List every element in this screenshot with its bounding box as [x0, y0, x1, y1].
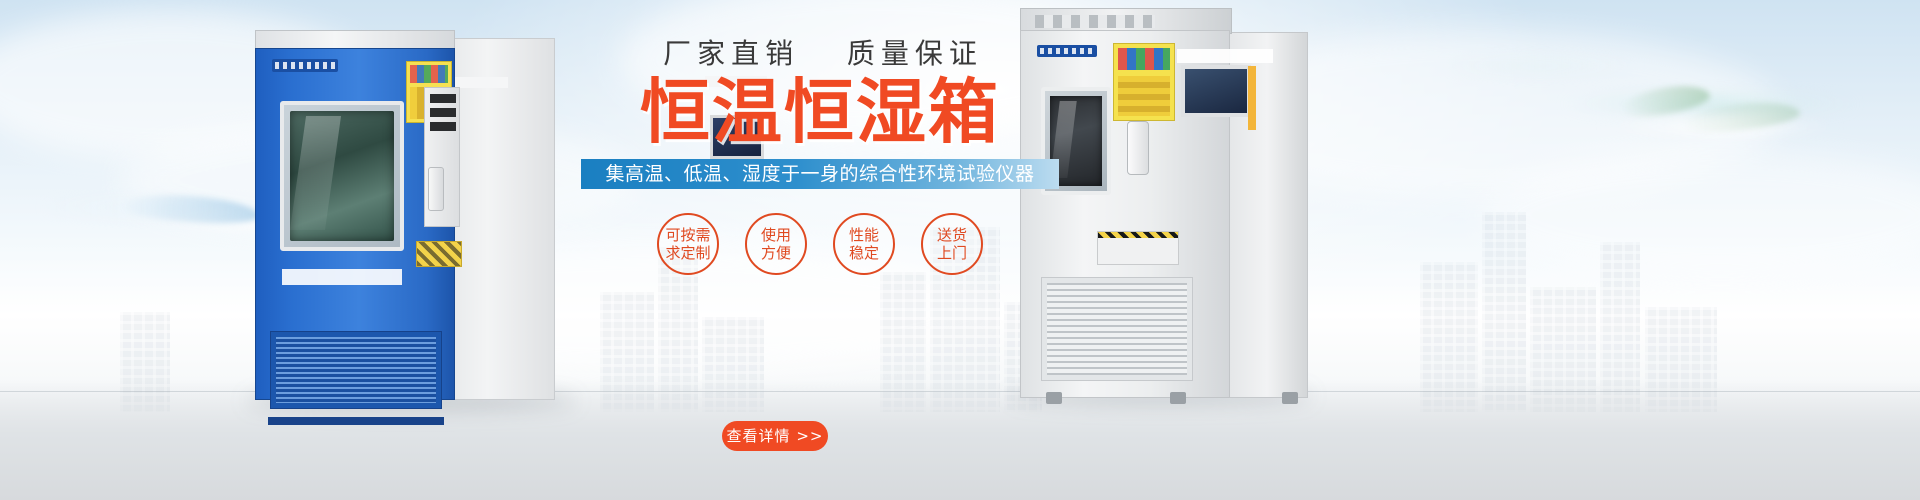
left-chamber-door [280, 101, 404, 251]
feature-badge-easy-use[interactable]: 使用 方便 [745, 213, 807, 275]
badge-line-1: 使用 [761, 226, 791, 244]
left-chamber-window [290, 111, 394, 241]
banner-subtitle-bar: 集高温、低温、湿度于一身的综合性环境试验仪器 [581, 159, 1059, 189]
feature-badge-list: 可按需 求定制 使用 方便 性能 稳定 送货 上门 [560, 213, 1080, 275]
left-chamber-handle [428, 167, 444, 211]
banner-headline: 恒温恒湿箱 [560, 77, 1080, 147]
badge-line-1: 送货 [937, 226, 967, 244]
feature-badge-delivery[interactable]: 送货 上门 [921, 213, 983, 275]
right-chamber-hmi-screen [1181, 65, 1251, 117]
view-details-button[interactable]: 查看详情 >> [722, 421, 828, 451]
left-chamber-side-cabinet [451, 38, 555, 400]
badge-line-1: 性能 [849, 226, 879, 244]
kicker-part-2: 质量保证 [847, 40, 983, 68]
badge-line-1: 可按需 [665, 226, 710, 244]
left-chamber-hazard-label [416, 241, 462, 267]
right-chamber-accent-stripe [1248, 66, 1256, 130]
brush-streak-decoration [1440, 60, 1640, 72]
left-chamber-unit [255, 30, 555, 400]
right-chamber-vent-grille [1041, 277, 1193, 381]
promo-banner: 厂家直销 质量保证 恒温恒湿箱 集高温、低温、湿度于一身的综合性环境试验仪器 可… [0, 0, 1920, 500]
kicker-part-1: 厂家直销 [663, 40, 799, 68]
badge-line-2: 求定制 [665, 244, 710, 262]
right-chamber-title-plate [1177, 49, 1273, 63]
right-chamber-foot [1282, 392, 1298, 404]
right-chamber-foot [1046, 392, 1062, 404]
left-chamber-base [268, 417, 444, 425]
brand-logo-icon [272, 59, 338, 72]
right-chamber-warning-labels [1113, 43, 1175, 121]
feature-badge-custom[interactable]: 可按需 求定制 [657, 213, 719, 275]
left-chamber-body [255, 48, 455, 400]
feature-badge-stable[interactable]: 性能 稳定 [833, 213, 895, 275]
badge-line-2: 上门 [937, 244, 967, 262]
banner-kicker: 厂家直销 质量保证 [560, 40, 1080, 68]
right-chamber-handle [1127, 121, 1149, 175]
right-chamber-hazard-label [1097, 231, 1179, 265]
badge-line-2: 方便 [761, 244, 791, 262]
left-chamber-info-label [282, 269, 402, 285]
badge-line-2: 稳定 [849, 244, 879, 262]
right-chamber-foot [1170, 392, 1186, 404]
banner-copy-block: 厂家直销 质量保证 恒温恒湿箱 集高温、低温、湿度于一身的综合性环境试验仪器 可… [560, 40, 1080, 275]
left-chamber-vent-grille [270, 331, 442, 409]
